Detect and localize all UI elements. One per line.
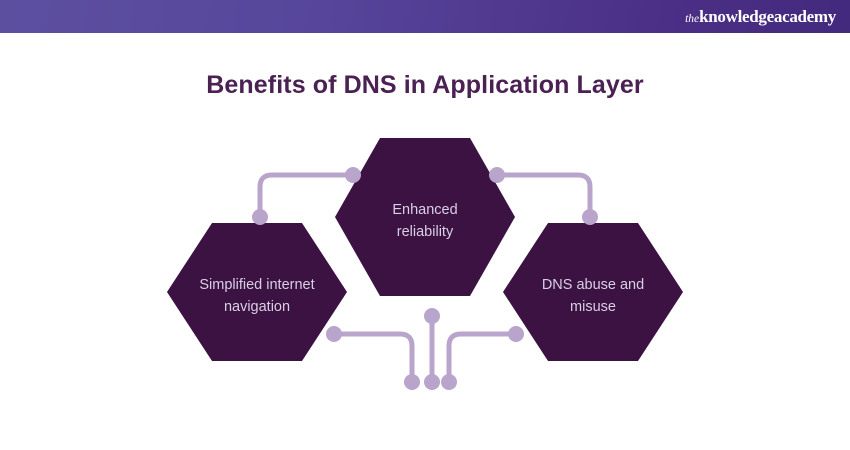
- connector-dot-left-hex-side: [326, 326, 342, 342]
- connector-dot-left-hex-top: [252, 209, 268, 225]
- connector-center-to-left-top: [260, 175, 353, 214]
- hexagon-node-left[interactable]: Simplified internet navigation: [167, 223, 347, 361]
- connector-left-bottom-stem: [334, 334, 412, 382]
- hexagon-label-right-line1: DNS abuse and: [542, 277, 644, 293]
- brand-logo-the: the: [685, 13, 699, 25]
- brand-logo-name: knowledgeacademy: [699, 7, 836, 27]
- hexagon-label-center-line2: reliability: [397, 224, 454, 240]
- hexagon-node-center[interactable]: Enhanced reliability: [335, 138, 515, 296]
- brand-logo[interactable]: theknowledgeacademy: [685, 7, 836, 27]
- connector-dot-center-top-right: [489, 167, 505, 183]
- bottom-terminal-right: [441, 374, 457, 390]
- header-bar: theknowledgeacademy: [0, 0, 850, 33]
- hexagon-label-left-line2: navigation: [224, 299, 290, 315]
- connector-dot-right-hex-top: [582, 209, 598, 225]
- bottom-terminal-left: [404, 374, 420, 390]
- hexagon-diagram: Simplified internet navigation DNS abuse…: [0, 120, 850, 420]
- bottom-terminal-center: [424, 374, 440, 390]
- hexagon-label-right-line2: misuse: [570, 299, 616, 315]
- connector-right-bottom-stem: [449, 334, 516, 382]
- connector-dot-center-hex-bottom: [424, 308, 440, 324]
- connector-center-to-right-top: [497, 175, 590, 214]
- page-title: Benefits of DNS in Application Layer: [0, 71, 850, 100]
- connector-dot-center-top-left: [345, 167, 361, 183]
- hexagon-label-center-line1: Enhanced: [392, 202, 457, 218]
- hexagon-label-left-line1: Simplified internet: [199, 277, 314, 293]
- connector-dot-right-hex-side: [508, 326, 524, 342]
- hexagon-node-right[interactable]: DNS abuse and misuse: [503, 223, 683, 361]
